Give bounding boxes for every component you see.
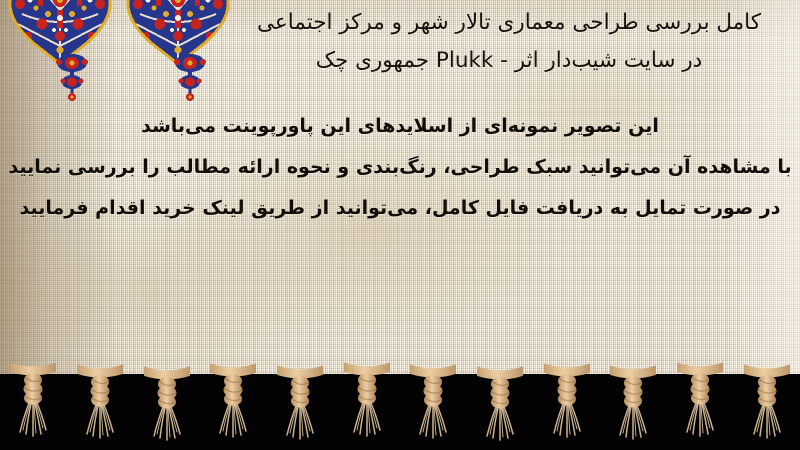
carpet-fringe-tassel	[544, 359, 590, 443]
slide-title-line-2: در سایت شیب‌دار اثر - Plukk جمهوری چک	[224, 42, 794, 80]
slide-title-line-1: کامل بررسی طراحی معماری تالار شهر و مرکز…	[224, 4, 794, 42]
carpet-fringe-tassel	[344, 358, 390, 442]
carpet-fringe-tassel	[477, 362, 523, 446]
carpet-fringe-tassel	[10, 358, 56, 442]
carpet-fringe-tassel	[210, 359, 256, 443]
slide-body-line-2: با مشاهده آن می‌توانید سبک طراحی، رنگ‌بن…	[8, 147, 792, 188]
carpet-fringe-tassel	[277, 361, 323, 445]
slide-canvas: کامل بررسی طراحی معماری تالار شهر و مرکز…	[0, 0, 800, 450]
slide-body-text: این تصویر نمونه‌ای از اسلایدهای این پاور…	[8, 106, 792, 229]
slide-body-line-3: در صورت تمایل به دریافت فایل کامل، می‌تو…	[8, 188, 792, 229]
carpet-fringe-tassel	[610, 361, 656, 445]
slide-title: کامل بررسی طراحی معماری تالار شهر و مرکز…	[224, 4, 794, 80]
carpet-fringe-tassel	[677, 358, 723, 442]
carpet-pendant-drop-right-icon	[170, 52, 210, 108]
carpet-fringe-tassel	[744, 360, 790, 444]
carpet-fringe-tassel	[410, 360, 456, 444]
carpet-fringe-tassel	[144, 362, 190, 446]
carpet-fringe-tassel	[77, 360, 123, 444]
carpet-pendant-drop-left-icon	[52, 52, 92, 108]
slide-body-line-1: این تصویر نمونه‌ای از اسلایدهای این پاور…	[8, 106, 792, 147]
carpet-fringe	[0, 360, 800, 382]
